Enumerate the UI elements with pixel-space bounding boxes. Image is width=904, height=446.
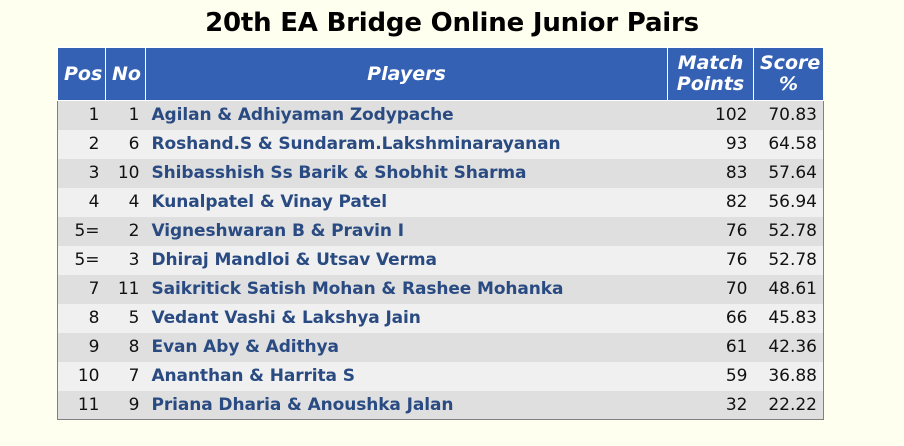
table-row[interactable]: 11Agilan & Adhiyaman Zodypache10270.83 bbox=[58, 101, 824, 130]
cell-score: 52.78 bbox=[754, 246, 824, 275]
cell-score: 56.94 bbox=[754, 188, 824, 217]
cell-no: 8 bbox=[106, 333, 146, 362]
cell-players: Ananthan & Harrita S bbox=[146, 362, 668, 391]
table-row[interactable]: 85Vedant Vashi & Lakshya Jain6645.83 bbox=[58, 304, 824, 333]
cell-players: Roshand.S & Sundaram.Lakshminarayanan bbox=[146, 130, 668, 159]
cell-match-points: 61 bbox=[668, 333, 754, 362]
cell-match-points: 32 bbox=[668, 391, 754, 420]
cell-score: 57.64 bbox=[754, 159, 824, 188]
cell-pos: 10 bbox=[58, 362, 106, 391]
cell-players: Agilan & Adhiyaman Zodypache bbox=[146, 101, 668, 130]
results-table: Pos No Players Match Points Score % 11Ag… bbox=[57, 47, 824, 420]
cell-no: 2 bbox=[106, 217, 146, 246]
cell-match-points: 93 bbox=[668, 130, 754, 159]
cell-score: 22.22 bbox=[754, 391, 824, 420]
table-row[interactable]: 711Saikritick Satish Mohan & Rashee Moha… bbox=[58, 275, 824, 304]
cell-no: 1 bbox=[106, 101, 146, 130]
cell-pos: 8 bbox=[58, 304, 106, 333]
cell-match-points: 102 bbox=[668, 101, 754, 130]
cell-match-points: 59 bbox=[668, 362, 754, 391]
cell-no: 7 bbox=[106, 362, 146, 391]
table-header-row: Pos No Players Match Points Score % bbox=[58, 48, 824, 101]
page-title: 20th EA Bridge Online Junior Pairs bbox=[0, 7, 904, 39]
column-header-match-points-line1: Match bbox=[678, 52, 744, 74]
cell-players: Evan Aby & Adithya bbox=[146, 333, 668, 362]
cell-no: 4 bbox=[106, 188, 146, 217]
table-row[interactable]: 44Kunalpatel & Vinay Patel8256.94 bbox=[58, 188, 824, 217]
cell-score: 36.88 bbox=[754, 362, 824, 391]
cell-pos: 4 bbox=[58, 188, 106, 217]
cell-score: 64.58 bbox=[754, 130, 824, 159]
cell-pos: 1 bbox=[58, 101, 106, 130]
cell-no: 9 bbox=[106, 391, 146, 420]
page-root: 20th EA Bridge Online Junior Pairs Pos N… bbox=[0, 0, 904, 446]
cell-players: Vedant Vashi & Lakshya Jain bbox=[146, 304, 668, 333]
table-row[interactable]: 5=3Dhiraj Mandloi & Utsav Verma7652.78 bbox=[58, 246, 824, 275]
cell-score: 52.78 bbox=[754, 217, 824, 246]
column-header-pos[interactable]: Pos bbox=[58, 48, 106, 101]
table-row[interactable]: 107Ananthan & Harrita S5936.88 bbox=[58, 362, 824, 391]
cell-no: 11 bbox=[106, 275, 146, 304]
table-row[interactable]: 26Roshand.S & Sundaram.Lakshminarayanan9… bbox=[58, 130, 824, 159]
column-header-score-line1: Score bbox=[760, 52, 820, 74]
column-header-score-line2: % bbox=[779, 73, 798, 95]
column-header-match-points[interactable]: Match Points bbox=[668, 48, 754, 101]
cell-match-points: 82 bbox=[668, 188, 754, 217]
column-header-score[interactable]: Score % bbox=[754, 48, 824, 101]
cell-no: 6 bbox=[106, 130, 146, 159]
cell-pos: 3 bbox=[58, 159, 106, 188]
cell-pos: 2 bbox=[58, 130, 106, 159]
table-row[interactable]: 5=2Vigneshwaran B & Pravin I7652.78 bbox=[58, 217, 824, 246]
cell-players: Vigneshwaran B & Pravin I bbox=[146, 217, 668, 246]
table-row[interactable]: 310Shibasshish Ss Barik & Shobhit Sharma… bbox=[58, 159, 824, 188]
cell-players: Shibasshish Ss Barik & Shobhit Sharma bbox=[146, 159, 668, 188]
table-header: Pos No Players Match Points Score % bbox=[58, 48, 824, 101]
cell-players: Dhiraj Mandloi & Utsav Verma bbox=[146, 246, 668, 275]
cell-match-points: 83 bbox=[668, 159, 754, 188]
cell-match-points: 76 bbox=[668, 217, 754, 246]
cell-score: 70.83 bbox=[754, 101, 824, 130]
table-body: 11Agilan & Adhiyaman Zodypache10270.8326… bbox=[58, 101, 824, 420]
cell-pos: 5= bbox=[58, 246, 106, 275]
cell-match-points: 76 bbox=[668, 246, 754, 275]
cell-no: 5 bbox=[106, 304, 146, 333]
table-row[interactable]: 119Priana Dharia & Anoushka Jalan3222.22 bbox=[58, 391, 824, 420]
cell-score: 45.83 bbox=[754, 304, 824, 333]
cell-pos: 11 bbox=[58, 391, 106, 420]
cell-pos: 5= bbox=[58, 217, 106, 246]
results-table-container: Pos No Players Match Points Score % 11Ag… bbox=[57, 47, 823, 420]
cell-players: Priana Dharia & Anoushka Jalan bbox=[146, 391, 668, 420]
cell-players: Kunalpatel & Vinay Patel bbox=[146, 188, 668, 217]
cell-pos: 7 bbox=[58, 275, 106, 304]
cell-match-points: 70 bbox=[668, 275, 754, 304]
column-header-no[interactable]: No bbox=[106, 48, 146, 101]
cell-no: 3 bbox=[106, 246, 146, 275]
cell-match-points: 66 bbox=[668, 304, 754, 333]
column-header-players[interactable]: Players bbox=[146, 48, 668, 101]
cell-score: 48.61 bbox=[754, 275, 824, 304]
column-header-match-points-line2: Points bbox=[677, 73, 744, 95]
cell-pos: 9 bbox=[58, 333, 106, 362]
cell-score: 42.36 bbox=[754, 333, 824, 362]
cell-players: Saikritick Satish Mohan & Rashee Mohanka bbox=[146, 275, 668, 304]
cell-no: 10 bbox=[106, 159, 146, 188]
table-row[interactable]: 98Evan Aby & Adithya6142.36 bbox=[58, 333, 824, 362]
